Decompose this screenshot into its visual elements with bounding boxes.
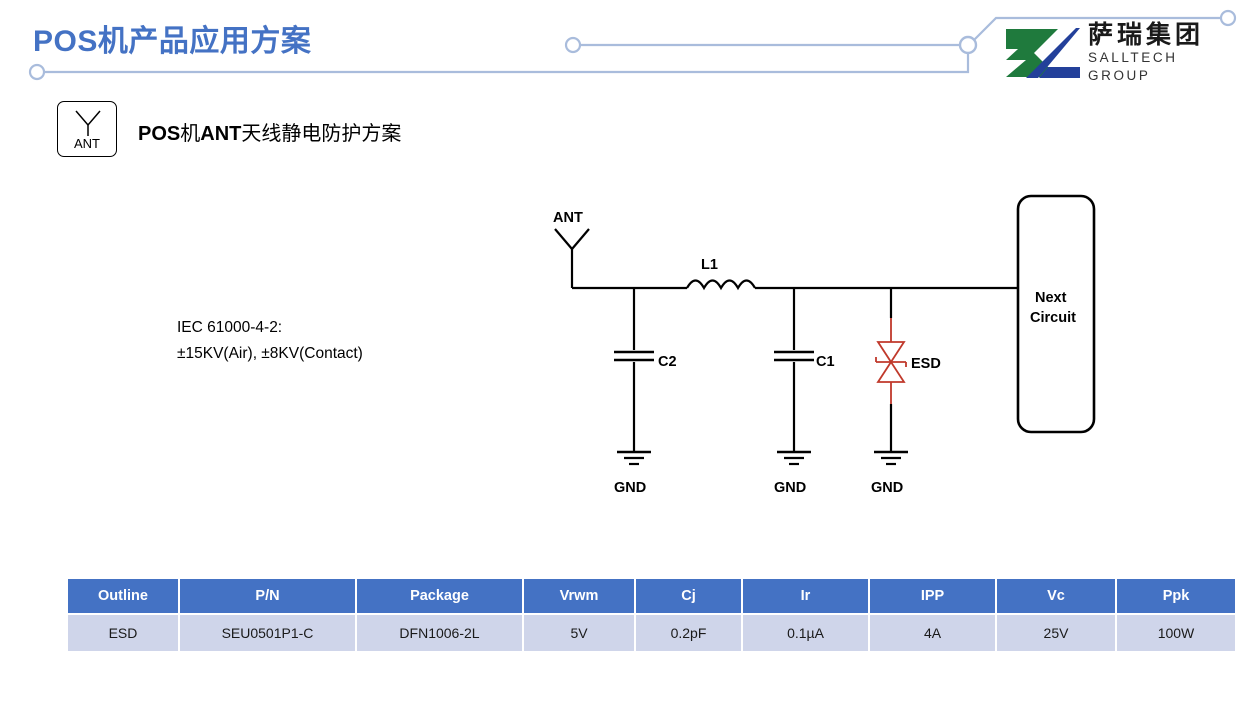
cell-ir: 0.1µA [743,615,868,651]
table-header-ppk: Ppk [1117,579,1235,613]
table-header-ir: Ir [743,579,868,613]
gnd-label-2: GND [774,480,806,496]
table-header-ipp: IPP [870,579,995,613]
cell-vc: 25V [997,615,1115,651]
table-header-vc: Vc [997,579,1115,613]
cell-outline: ESD [68,615,178,651]
gnd-label-1: GND [614,480,646,496]
table-header-package: Package [357,579,522,613]
table-header-row: Outline P/N Package Vrwm Cj Ir IPP Vc Pp… [68,579,1235,613]
cell-vrwm: 5V [524,615,634,651]
antenna-symbol [555,229,589,288]
circuit-diagram: ANT L1 C2 GND [0,0,1255,560]
cell-cj: 0.2pF [636,615,741,651]
table-header-pn: P/N [180,579,355,613]
table-header-cj: Cj [636,579,741,613]
esd-diode-branch [874,288,908,464]
cell-ppk: 100W [1117,615,1235,651]
capacitor-c1-branch [774,288,814,464]
cell-ipp: 4A [870,615,995,651]
antenna-label: ANT [553,210,583,226]
cell-pn: SEU0501P1-C [180,615,355,651]
table-header-outline: Outline [68,579,178,613]
esd-label: ESD [911,356,941,372]
slide-page: POS机产品应用方案 萨瑞集团 SALLTECH GROUP ANT POS机A… [0,0,1255,702]
table-header-vrwm: Vrwm [524,579,634,613]
capacitor-c2-branch [614,288,654,464]
table-row: ESD SEU0501P1-C DFN1006-2L 5V 0.2pF 0.1µ… [68,615,1235,651]
capacitor-c1-label: C1 [816,354,835,370]
cell-package: DFN1006-2L [357,615,522,651]
spec-table: Outline P/N Package Vrwm Cj Ir IPP Vc Pp… [66,577,1237,653]
next-circuit-line2: Circuit [1030,310,1076,326]
next-circuit-line1: Next [1035,290,1067,306]
inductor-label: L1 [701,257,718,273]
capacitor-c2-label: C2 [658,354,677,370]
gnd-label-3: GND [871,480,903,496]
